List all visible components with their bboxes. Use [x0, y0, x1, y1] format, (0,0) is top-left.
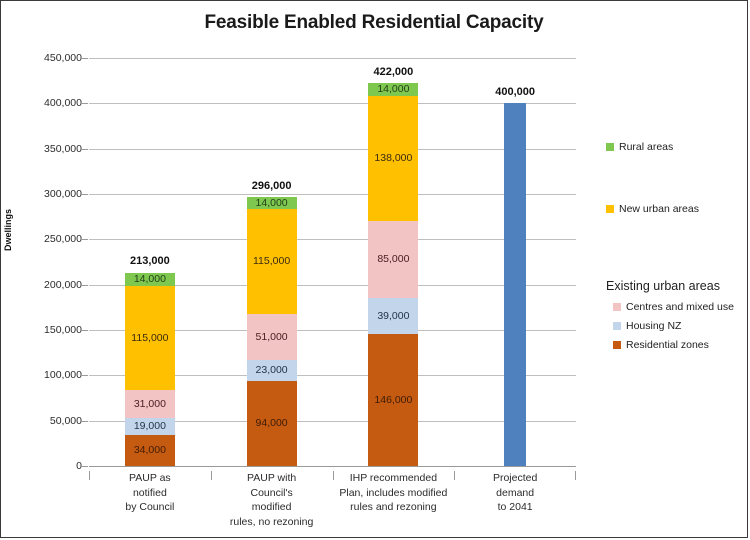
- bar-total-label: 213,000: [130, 255, 170, 267]
- bar-segment-centres[interactable]: 85,000: [368, 221, 418, 298]
- legend-swatch-icon: [613, 303, 621, 311]
- legend-item-residential-zones[interactable]: Residential zones: [613, 339, 709, 351]
- legend-label: Housing NZ: [626, 320, 681, 332]
- category-label-line: Plan, includes modified: [333, 486, 455, 501]
- bar-segment-label: 115,000: [131, 333, 168, 344]
- plot-area: 213,000 14,000 115,000 31,000 19,000 34,…: [89, 58, 576, 466]
- category-label-ihp-plan: IHP recommended Plan, includes modified …: [333, 471, 455, 515]
- category-label-line: to 2041: [454, 500, 576, 515]
- legend-swatch-icon: [606, 205, 614, 213]
- bar-segment-residential-zones[interactable]: 94,000: [247, 381, 297, 466]
- bar-total-label: 422,000: [374, 66, 414, 78]
- y-tick-mark: [82, 58, 88, 59]
- bar-segment-residential-zones[interactable]: 34,000: [125, 435, 175, 466]
- category-label-line: rules and rezoning: [333, 500, 455, 515]
- bar-segment-label: 31,000: [134, 399, 166, 410]
- category-label-line: PAUP as: [89, 471, 211, 486]
- stacked-bar[interactable]: [504, 103, 526, 466]
- bar-segment-label: 85,000: [377, 254, 409, 265]
- category-label-paup-modified: PAUP with Council's modified rules, no r…: [211, 471, 333, 529]
- legend-swatch-icon: [606, 143, 614, 151]
- y-tick-mark: [82, 375, 88, 376]
- stacked-bar[interactable]: 14,000 115,000 51,000 23,000 94,000: [247, 197, 297, 466]
- legend-label: Centres and mixed use: [626, 301, 734, 313]
- bar-segment-residential-zones[interactable]: 146,000: [368, 334, 418, 466]
- y-tick-mark: [82, 285, 88, 286]
- legend-swatch-icon: [613, 341, 621, 349]
- bar-segment-label: 14,000: [134, 274, 166, 285]
- y-tick-mark: [82, 103, 88, 104]
- bar-segment-label: 94,000: [256, 418, 288, 429]
- category-label-line: IHP recommended: [333, 471, 455, 486]
- y-tick-mark: [82, 194, 88, 195]
- bar-segment-label: 146,000: [374, 395, 412, 406]
- gridline: [89, 103, 576, 104]
- gridline: [89, 239, 576, 240]
- bar-segment-rural[interactable]: 14,000: [247, 197, 297, 210]
- category-label-line: modified: [211, 500, 333, 515]
- bar-segment-centres[interactable]: 31,000: [125, 390, 175, 418]
- y-tick-label: 200,000: [44, 279, 82, 291]
- legend-item-centres-and-mixed-use[interactable]: Centres and mixed use: [613, 301, 734, 313]
- y-tick-mark: [82, 466, 88, 467]
- y-tick-mark: [82, 239, 88, 240]
- category-label-line: Projected: [454, 471, 576, 486]
- legend-label: Rural areas: [619, 141, 673, 153]
- legend-group-header-existing-urban-areas: Existing urban areas: [606, 279, 720, 293]
- bar-segment-new-urban[interactable]: 115,000: [125, 286, 175, 390]
- gridline: [89, 58, 576, 59]
- y-tick-mark: [82, 421, 88, 422]
- y-tick-mark: [82, 149, 88, 150]
- legend-label: Residential zones: [626, 339, 709, 351]
- category-label-paup-notified: PAUP as notified by Council: [89, 471, 211, 515]
- bar-total-label: 400,000: [495, 86, 535, 98]
- category-label-line: rules, no rezoning: [211, 515, 333, 530]
- y-tick-label: 100,000: [44, 369, 82, 381]
- bar-segment-housing-nz[interactable]: 19,000: [125, 418, 175, 435]
- gridline: [89, 149, 576, 150]
- category-label-line: Council's: [211, 486, 333, 501]
- legend-item-rural-areas[interactable]: Rural areas: [606, 141, 673, 153]
- bar-segment-projected-demand[interactable]: [504, 103, 526, 466]
- category-label-projected-demand: Projected demand to 2041: [454, 471, 576, 515]
- y-axis-tick-labels: 450,000 400,000 350,000 300,000 250,000 …: [1, 58, 82, 466]
- bar-segment-label: 115,000: [253, 256, 290, 267]
- category-label-line: demand: [454, 486, 576, 501]
- bar-segment-new-urban[interactable]: 138,000: [368, 96, 418, 221]
- y-tick-label: 350,000: [44, 143, 82, 155]
- category-label-line: PAUP with: [211, 471, 333, 486]
- y-tick-label: 50,000: [50, 415, 82, 427]
- bar-segment-label: 14,000: [377, 84, 409, 95]
- chart-container: Feasible Enabled Residential Capacity Dw…: [0, 0, 748, 538]
- chart-title: Feasible Enabled Residential Capacity: [1, 12, 747, 34]
- bar-segment-label: 138,000: [374, 153, 412, 164]
- legend-swatch-icon: [613, 322, 621, 330]
- bar-total-label: 296,000: [252, 180, 292, 192]
- y-tick-label: 400,000: [44, 97, 82, 109]
- y-tick-label: 450,000: [44, 52, 82, 64]
- bar-segment-label: 39,000: [377, 311, 409, 322]
- category-label-line: by Council: [89, 500, 211, 515]
- bar-segment-label: 34,000: [134, 445, 166, 456]
- stacked-bar[interactable]: 14,000 115,000 31,000 19,000 34,000: [125, 273, 175, 466]
- y-tick-label: 250,000: [44, 233, 82, 245]
- y-tick-mark: [82, 330, 88, 331]
- x-axis-category-labels: PAUP as notified by Council PAUP with Co…: [89, 471, 576, 537]
- stacked-bar[interactable]: 14,000 138,000 85,000 39,000 146,000: [368, 83, 418, 466]
- bar-segment-label: 19,000: [134, 421, 166, 432]
- bar-segment-label: 51,000: [256, 332, 288, 343]
- legend-item-housing-nz[interactable]: Housing NZ: [613, 320, 681, 332]
- x-axis-line: [89, 466, 576, 467]
- legend-label: New urban areas: [619, 203, 699, 215]
- category-label-line: notified: [89, 486, 211, 501]
- bar-segment-label: 23,000: [256, 365, 288, 376]
- bar-segment-rural[interactable]: 14,000: [368, 83, 418, 96]
- bar-segment-centres[interactable]: 51,000: [247, 314, 297, 360]
- gridline: [89, 194, 576, 195]
- bar-segment-label: 14,000: [256, 198, 288, 209]
- y-tick-label: 300,000: [44, 188, 82, 200]
- bar-segment-housing-nz[interactable]: 39,000: [368, 298, 418, 333]
- legend-item-new-urban-areas[interactable]: New urban areas: [606, 203, 699, 215]
- bar-segment-housing-nz[interactable]: 23,000: [247, 360, 297, 381]
- y-tick-label: 150,000: [44, 324, 82, 336]
- bar-segment-new-urban[interactable]: 115,000: [247, 209, 297, 313]
- bar-segment-rural[interactable]: 14,000: [125, 273, 175, 286]
